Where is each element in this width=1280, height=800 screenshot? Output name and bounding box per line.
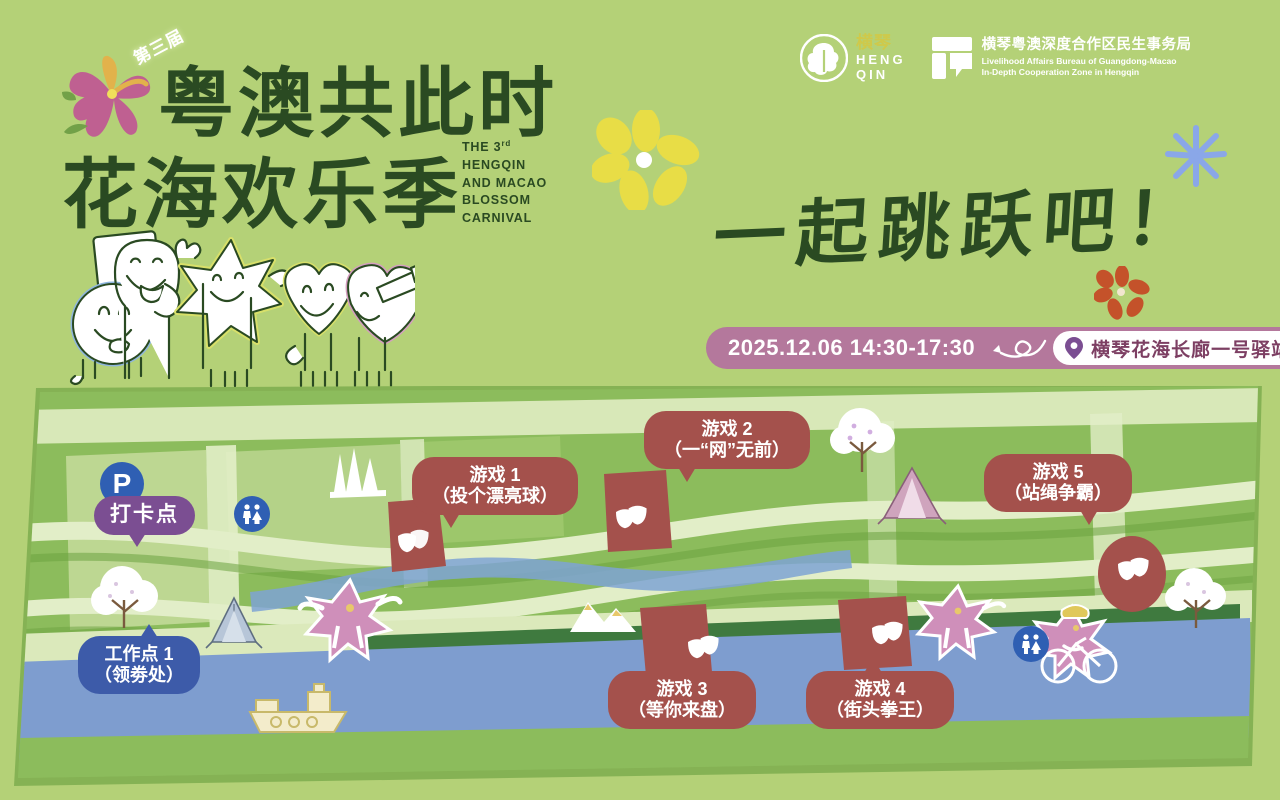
pill-tail xyxy=(128,533,146,547)
marker-game-5-line2: （站绳争霸） xyxy=(1004,483,1112,504)
marker-game-5[interactable]: 游戏 5 （站绳争霸） xyxy=(984,454,1132,512)
orange-flower-icon xyxy=(1094,266,1150,320)
restroom-icon[interactable] xyxy=(234,496,270,532)
marker-game-2-line1: 游戏 2 xyxy=(701,419,752,440)
yellow-flower-icon xyxy=(592,110,700,210)
subtitle-en-line1: THE 3 xyxy=(462,140,501,154)
subtitle-ordinal: rd xyxy=(501,139,511,148)
pill-tail xyxy=(666,658,684,673)
marker-game-3-line1: 游戏 3 xyxy=(656,679,707,700)
marker-station-1-line2: （领劵处） xyxy=(94,665,184,686)
restroom-glyph xyxy=(1020,633,1042,655)
header-banner: 第三届 粤澳共此时 花海欢乐季 THE 3rd HENGQIN AND MACA… xyxy=(0,0,1280,390)
subtitle-english: THE 3rd HENGQIN AND MACAO BLOSSOM CARNIV… xyxy=(462,138,547,228)
bureau-logo: 横琴粤澳深度合作区民生事务局 Livelihood Affairs Bureau… xyxy=(930,35,1192,81)
marker-game-2[interactable]: 游戏 2 （一“网”无前） xyxy=(644,411,810,469)
bureau-name-en: Livelihood Affairs Bureau of Guangdong-M… xyxy=(982,56,1192,78)
location-pin-icon xyxy=(1065,337,1083,359)
marker-game-2-line2: （一“网”无前） xyxy=(664,440,790,461)
pill-tail xyxy=(1080,510,1098,525)
event-slogan: 一起跳跃吧！ xyxy=(711,157,1211,283)
event-location-text: 横琴花海长廊一号驿站 xyxy=(1091,335,1280,362)
hengqin-logo-en: HENG QIN xyxy=(856,53,906,83)
title-line-2: 花海欢乐季 xyxy=(62,133,462,243)
event-info-bar: 2025.12.06 14:30-17:30 横琴花海长廊一号驿站 xyxy=(706,327,1280,369)
marker-game-1[interactable]: 游戏 1 （投个漂亮球） xyxy=(412,457,578,515)
pill-tail xyxy=(140,624,158,638)
bureau-mark-icon xyxy=(930,35,974,81)
hengqin-clover-icon xyxy=(800,34,848,82)
marker-game-1-line2: （投个漂亮球） xyxy=(432,486,558,507)
bureau-logo-text: 横琴粤澳深度合作区民生事务局 Livelihood Affairs Bureau… xyxy=(982,38,1192,78)
marker-game-4-line1: 游戏 4 xyxy=(854,679,905,700)
marker-station-1-line1: 工作点 1 xyxy=(104,644,173,665)
marker-game-4[interactable]: 游戏 4 （街头拳王） xyxy=(806,671,954,729)
hibiscus-flower-icon xyxy=(62,48,172,144)
event-datetime: 2025.12.06 14:30-17:30 xyxy=(706,335,989,361)
map-illustration xyxy=(0,386,1280,800)
hengqin-logo: 横琴 HENG QIN xyxy=(800,34,906,83)
marker-checkin-left[interactable]: 打卡点 xyxy=(94,496,195,535)
mascot-characters-illustration xyxy=(55,228,415,388)
marker-game-1-line1: 游戏 1 xyxy=(469,465,520,486)
subtitle-en-line4: BLOSSOM xyxy=(462,192,547,210)
restroom-glyph xyxy=(241,503,263,525)
pill-tail xyxy=(678,467,696,482)
hengqin-logo-text: 横琴 HENG QIN xyxy=(856,34,906,83)
event-location-pill: 横琴花海长廊一号驿站 xyxy=(1053,331,1280,365)
bureau-name-en-1: Livelihood Affairs Bureau of Guangdong-M… xyxy=(982,56,1192,67)
marker-game-4-line2: （街头拳王） xyxy=(826,700,934,721)
subtitle-en-line3: AND MACAO xyxy=(462,175,547,193)
subtitle-en-line2: HENGQIN xyxy=(462,157,547,175)
subtitle-en-line5: CARNIVAL xyxy=(462,210,547,228)
bureau-name-en-2: In-Depth Cooperation Zone in Hengqin xyxy=(982,67,1192,78)
squiggle-arrow-icon xyxy=(989,335,1049,361)
event-site-map: P i i xyxy=(0,386,1280,800)
pill-tail xyxy=(864,658,882,673)
pill-tail xyxy=(442,513,460,528)
bureau-name-cn: 横琴粤澳深度合作区民生事务局 xyxy=(982,38,1192,54)
marker-station-1[interactable]: 工作点 1 （领劵处） xyxy=(78,636,200,694)
marker-game-3[interactable]: 游戏 3 （等你来盘） xyxy=(608,671,756,729)
restroom-icon[interactable] xyxy=(1013,626,1049,662)
marker-game-5-line1: 游戏 5 xyxy=(1032,462,1083,483)
marker-checkin-left-label: 打卡点 xyxy=(110,503,179,528)
hengqin-logo-en-2: QIN xyxy=(856,68,906,83)
hengqin-logo-cn: 横琴 xyxy=(856,34,906,51)
marker-game-3-line2: （等你来盘） xyxy=(628,700,736,721)
hengqin-logo-en-1: HENG xyxy=(856,53,906,68)
logo-group: 横琴 HENG QIN 横琴粤澳深度合作区民生事务局 Livelihood Af… xyxy=(800,33,1192,83)
